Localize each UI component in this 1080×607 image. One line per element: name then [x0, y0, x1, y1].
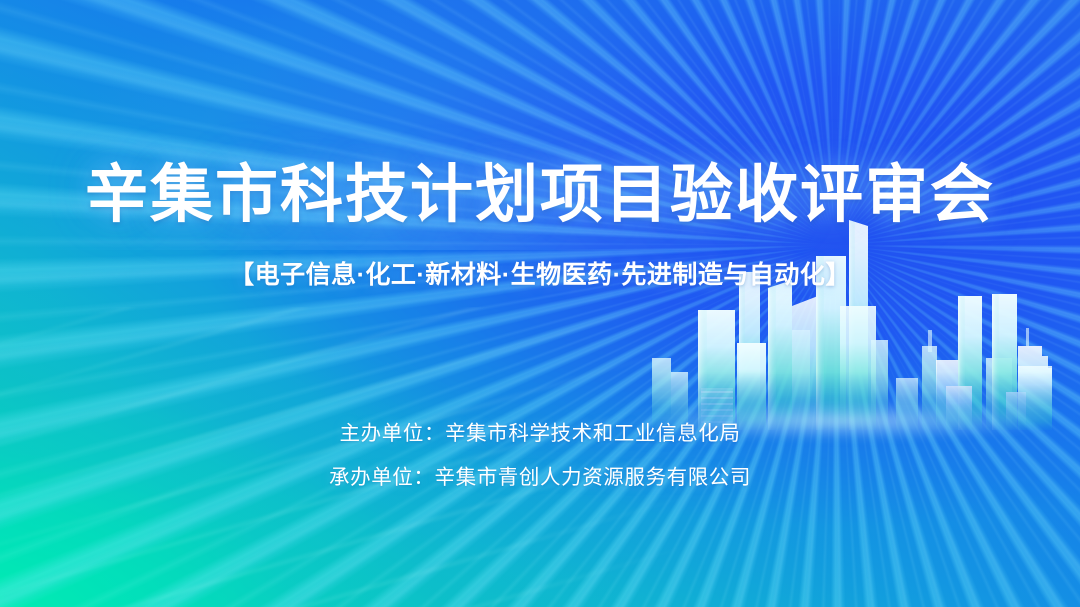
- page-subtitle: 【电子信息·化工·新材料·生物医药·先进制造与自动化】: [0, 255, 1080, 291]
- organizer-undertaker-line: 承办单位：辛集市青创人力资源服务有限公司: [0, 468, 1080, 489]
- city-skyline-icon: [640, 210, 1060, 435]
- organizer-block: 主办单位：辛集市科学技术和工业信息化局 承办单位：辛集市青创人力资源服务有限公司: [0, 424, 1080, 488]
- page-title: 辛集市科技计划项目验收评审会: [0, 160, 1080, 231]
- event-banner: 辛集市科技计划项目验收评审会 【电子信息·化工·新材料·生物医药·先进制造与自动…: [0, 0, 1080, 607]
- organizer-host-line: 主办单位：辛集市科学技术和工业信息化局: [0, 424, 1080, 445]
